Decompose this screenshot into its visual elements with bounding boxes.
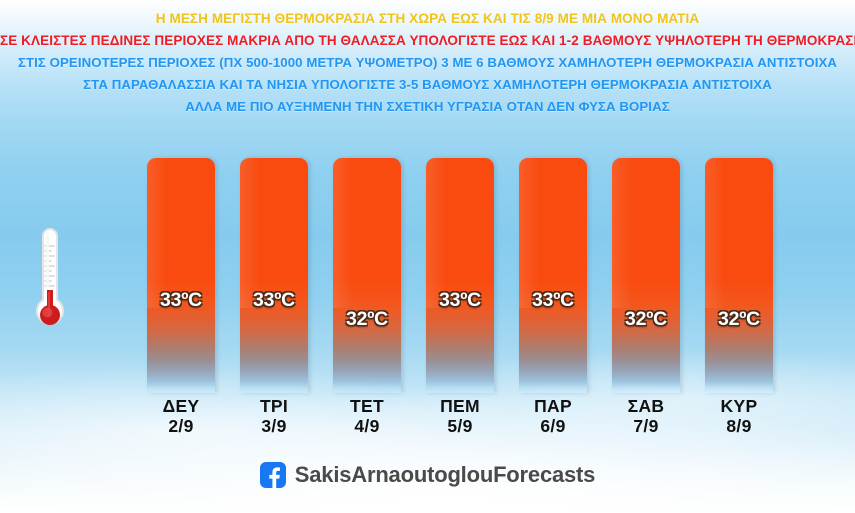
temperature-bar — [612, 158, 680, 393]
temperature-bar — [519, 158, 587, 393]
day-name: ΠΑΡ — [519, 396, 587, 416]
day-name: ΤΕΤ — [333, 396, 401, 416]
bar-column: 32ºC — [333, 158, 401, 393]
temperature-bar — [147, 158, 215, 393]
bar-value-label: 33ºC — [240, 289, 308, 312]
footer-credit: SakisArnaoutoglouForecasts — [0, 462, 855, 488]
header-line-3: ΣΤΙΣ ΟΡΕΙΝΟΤΕΡΕΣ ΠΕΡΙΟΧΕΣ (ΠΧ 500-1000 Μ… — [0, 52, 855, 74]
day-date: 4/9 — [333, 416, 401, 437]
bar-value-label: 32ºC — [333, 308, 401, 331]
day-label-group: ΣΑΒ 7/9 — [612, 396, 680, 437]
temperature-bar — [240, 158, 308, 393]
bar-column: 32ºC — [705, 158, 773, 393]
day-label-group: ΠΑΡ 6/9 — [519, 396, 587, 437]
header-text-block: Η ΜΕΣΗ ΜΕΓΙΣΤΗ ΘΕΡΜΟΚΡΑΣΙΑ ΣΤΗ ΧΩΡΑ ΕΩΣ … — [0, 8, 855, 118]
day-label-row: ΔΕΥ 2/9 ΤΡΙ 3/9 ΤΕΤ 4/9 ΠΕΜ 5/9 ΠΑΡ 6/9 … — [147, 396, 773, 437]
day-date: 5/9 — [426, 416, 494, 437]
header-line-2: ΣΕ ΚΛΕΙΣΤΕΣ ΠΕΔΙΝΕΣ ΠΕΡΙΟΧΕΣ ΜΑΚΡΙΑ ΑΠΟ … — [0, 30, 855, 52]
day-name: ΣΑΒ — [612, 396, 680, 416]
weather-forecast-infographic: Η ΜΕΣΗ ΜΕΓΙΣΤΗ ΘΕΡΜΟΚΡΑΣΙΑ ΣΤΗ ΧΩΡΑ ΕΩΣ … — [0, 0, 855, 513]
bar-value-label: 33ºC — [426, 289, 494, 312]
day-name: ΠΕΜ — [426, 396, 494, 416]
day-date: 8/9 — [705, 416, 773, 437]
day-name: ΚΥΡ — [705, 396, 773, 416]
facebook-icon[interactable] — [260, 462, 286, 488]
bar-value-label: 33ºC — [519, 289, 587, 312]
day-date: 7/9 — [612, 416, 680, 437]
header-line-1: Η ΜΕΣΗ ΜΕΓΙΣΤΗ ΘΕΡΜΟΚΡΑΣΙΑ ΣΤΗ ΧΩΡΑ ΕΩΣ … — [0, 8, 855, 30]
facebook-handle[interactable]: SakisArnaoutoglouForecasts — [295, 462, 595, 488]
header-line-5: ΑΛΛΑ ΜΕ ΠΙΟ ΑΥΞΗΜΕΝΗ ΤΗΝ ΣΧΕΤΙΚΗ ΥΓΡΑΣΙΑ… — [0, 96, 855, 118]
bar-column: 33ºC — [426, 158, 494, 393]
header-line-4: ΣΤΑ ΠΑΡΑΘΑΛΑΣΣΙΑ ΚΑΙ ΤΑ ΝΗΣΙΑ ΥΠΟΛΟΓΙΣΤΕ… — [0, 74, 855, 96]
day-name: ΤΡΙ — [240, 396, 308, 416]
day-label-group: ΠΕΜ 5/9 — [426, 396, 494, 437]
temperature-bar-chart: 33ºC 33ºC 32ºC 33ºC 33ºC 32ºC 32ºC — [147, 158, 773, 393]
bar-value-label: 32ºC — [705, 308, 773, 331]
bar-column: 33ºC — [147, 158, 215, 393]
bar-column: 32ºC — [612, 158, 680, 393]
temperature-bar — [333, 158, 401, 393]
bar-value-label: 33ºC — [147, 289, 215, 312]
day-label-group: ΔΕΥ 2/9 — [147, 396, 215, 437]
day-date: 3/9 — [240, 416, 308, 437]
day-name: ΔΕΥ — [147, 396, 215, 416]
day-label-group: ΤΕΤ 4/9 — [333, 396, 401, 437]
day-date: 6/9 — [519, 416, 587, 437]
thermometer-icon — [28, 224, 72, 336]
day-label-group: ΚΥΡ 8/9 — [705, 396, 773, 437]
temperature-bar — [426, 158, 494, 393]
day-label-group: ΤΡΙ 3/9 — [240, 396, 308, 437]
bar-column: 33ºC — [519, 158, 587, 393]
day-date: 2/9 — [147, 416, 215, 437]
bar-value-label: 32ºC — [612, 308, 680, 331]
temperature-bar — [705, 158, 773, 393]
bar-column: 33ºC — [240, 158, 308, 393]
